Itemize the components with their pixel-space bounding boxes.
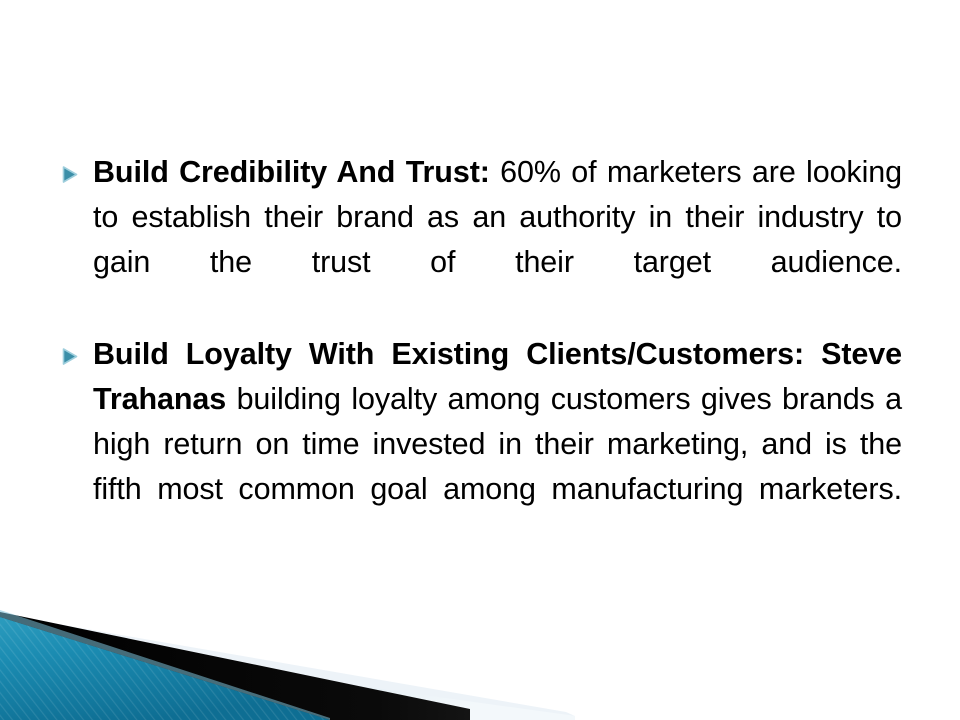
- slide-canvas: Build Credibility And Trust: 60% of mark…: [0, 0, 960, 720]
- list-item-text: Build Credibility And Trust: 60% of mark…: [93, 150, 902, 330]
- list-item-lead: Build Credibility And Trust:: [93, 155, 490, 189]
- pale-blue-band: [0, 632, 575, 720]
- triangle-right-icon: [62, 332, 93, 365]
- teal-wedge-texture: [0, 617, 330, 720]
- black-diagonal-stripe: [0, 612, 470, 720]
- pale-blue-band-upper: [0, 614, 575, 716]
- list-item: Build Credibility And Trust: 60% of mark…: [62, 150, 902, 330]
- list-item-text: Build Loyalty With Existing Clients/Cust…: [93, 332, 902, 557]
- bullet-list: Build Credibility And Trust: 60% of mark…: [62, 150, 902, 559]
- teal-wedge: [0, 617, 330, 720]
- list-item: Build Loyalty With Existing Clients/Cust…: [62, 332, 902, 557]
- triangle-right-icon: [62, 150, 93, 183]
- teal-wedge-highlight: [0, 610, 330, 720]
